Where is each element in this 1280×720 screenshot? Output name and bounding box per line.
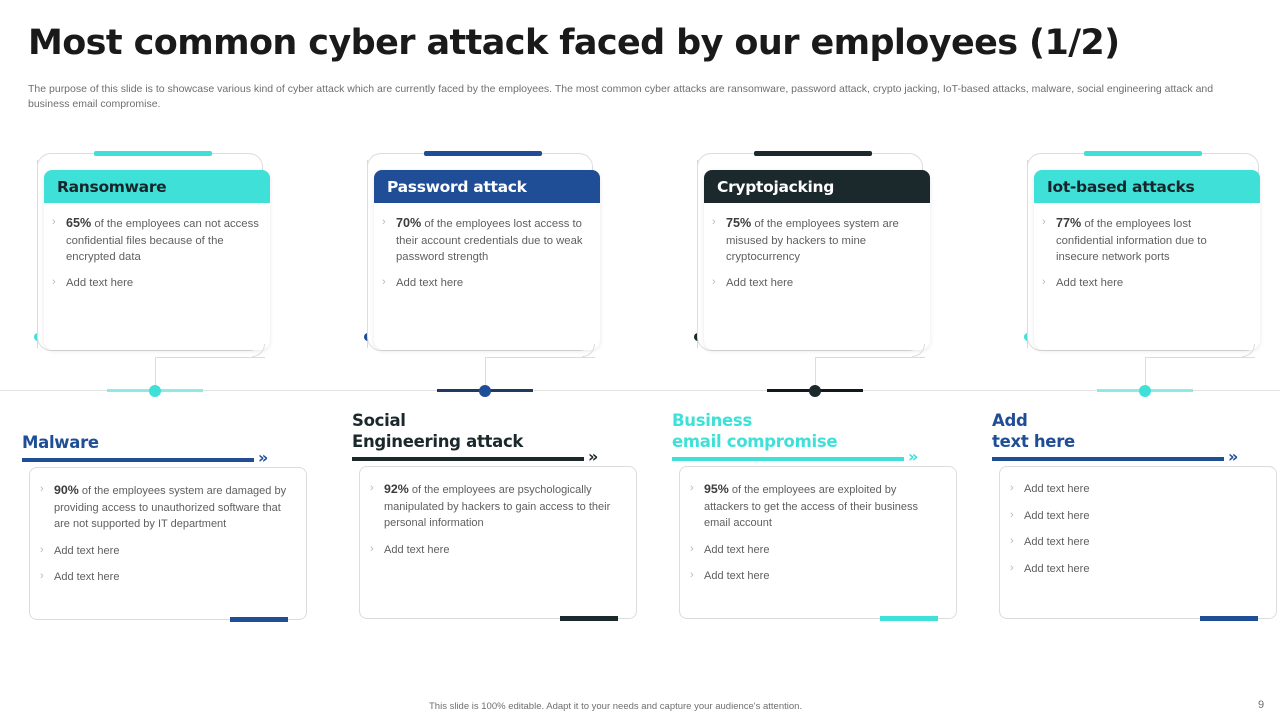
bullet-body: Add text here	[1056, 277, 1123, 289]
chevron-right-icon: ›	[1010, 534, 1024, 551]
bullet-body: Add text here	[704, 570, 769, 582]
chevron-right-icon: ›	[382, 275, 396, 292]
bullet-body: of the employees are psychologically man…	[384, 484, 610, 529]
bullet-percent: 92%	[384, 482, 409, 496]
chevron-right-icon: ›	[40, 569, 54, 586]
card-accent-wrap: »	[672, 454, 964, 466]
chevron-right-icon: ›	[1010, 561, 1024, 578]
bullet-item: ›90% of the employees system are damaged…	[40, 482, 294, 533]
bullet-body: Add text here	[396, 277, 463, 289]
bullet-text: Add text here	[726, 275, 793, 292]
chevron-right-icon: ›	[1010, 508, 1024, 525]
card-header: Iot-based attacks	[1034, 170, 1260, 203]
bullet-item: ›65% of the employees can not access con…	[52, 215, 260, 266]
slide-root: Most common cyber attack faced by our em…	[0, 0, 1280, 720]
bullet-text: Add text here	[1024, 481, 1089, 498]
attack-card-bottom[interactable]: Businessemail compromise»›95% of the emp…	[672, 408, 964, 619]
card-accent-bar	[672, 457, 904, 461]
card-body: ›90% of the employees system are damaged…	[29, 467, 307, 620]
bullet-text: 77% of the employees lost confidential i…	[1056, 215, 1250, 266]
bullet-text: 75% of the employees system are misused …	[726, 215, 920, 266]
card-accent-wrap: »	[22, 455, 314, 467]
bullet-item: ›Add text here	[712, 275, 920, 292]
bullet-body: Add text here	[726, 277, 793, 289]
bullet-text: 90% of the employees system are damaged …	[54, 482, 294, 533]
card-title: Addtext here	[992, 408, 1280, 452]
bullet-item: ›Add text here	[1010, 481, 1264, 498]
bullet-text: Add text here	[54, 569, 119, 586]
card-accent-wrap: »	[992, 454, 1280, 466]
bullet-item: ›Add text here	[1042, 275, 1250, 292]
bullet-text: Add text here	[1024, 534, 1089, 551]
double-chevron-icon: »	[258, 450, 266, 466]
bullet-percent: 95%	[704, 482, 729, 496]
card-top-accent-bar	[1084, 151, 1202, 156]
bullet-body: Add text here	[1024, 483, 1089, 495]
chevron-right-icon: ›	[370, 542, 384, 559]
chevron-right-icon: ›	[690, 568, 704, 585]
connector-curve	[1242, 344, 1255, 357]
bullet-item: ›Add text here	[370, 542, 624, 559]
card-title: SocialEngineering attack	[352, 408, 644, 452]
bullet-item: ›Add text here	[52, 275, 260, 292]
connector-node-dot	[1139, 385, 1151, 397]
bullet-body: Add text here	[54, 545, 119, 557]
bullet-body: Add text here	[1024, 510, 1089, 522]
card-title: Password attack	[387, 178, 527, 196]
bullet-body: Add text here	[1024, 563, 1089, 575]
bullet-text: 95% of the employees are exploited by at…	[704, 481, 944, 532]
card-header: Ransomware	[44, 170, 270, 203]
attack-card-top[interactable]: Password attack›70% of the employees los…	[367, 148, 599, 353]
card-body: ›Add text here›Add text here›Add text he…	[999, 466, 1277, 619]
double-chevron-icon: »	[1228, 449, 1236, 465]
page-number: 9	[1258, 699, 1264, 711]
card-title: Iot-based attacks	[1047, 178, 1194, 196]
bullet-body: Add text here	[54, 571, 119, 583]
chevron-right-icon: ›	[1010, 481, 1024, 498]
bullet-item: ›92% of the employees are psychologicall…	[370, 481, 624, 532]
card-title-line2: Engineering attack	[352, 431, 644, 452]
bullet-text: Add text here	[66, 275, 133, 292]
bullet-percent: 77%	[1056, 216, 1081, 230]
card-title: Cryptojacking	[717, 178, 834, 196]
chevron-right-icon: ›	[382, 215, 396, 266]
bullet-text: Add text here	[704, 542, 769, 559]
attack-card-bottom[interactable]: SocialEngineering attack»›92% of the emp…	[352, 408, 644, 619]
card-bottom-accent-bar	[560, 616, 618, 621]
card-inner: Iot-based attacks›77% of the employees l…	[1034, 170, 1260, 350]
card-body: ›65% of the employees can not access con…	[44, 203, 270, 291]
bullet-text: 65% of the employees can not access conf…	[66, 215, 260, 266]
chevron-right-icon: ›	[52, 275, 66, 292]
card-title: Businessemail compromise	[672, 408, 964, 452]
chevron-right-icon: ›	[690, 481, 704, 532]
card-inner: Ransomware›65% of the employees can not …	[44, 170, 270, 350]
bullet-text: Add text here	[704, 568, 769, 585]
card-inner: Password attack›70% of the employees los…	[374, 170, 600, 350]
bullet-body: of the employees lost access to their ac…	[396, 218, 583, 263]
bullet-text: Add text here	[384, 542, 449, 559]
bullet-item: ›77% of the employees lost confidential …	[1042, 215, 1250, 266]
bullet-percent: 65%	[66, 216, 91, 230]
bullet-item: ›Add text here	[382, 275, 590, 292]
bullet-item: ›70% of the employees lost access to the…	[382, 215, 590, 266]
bullet-body: Add text here	[66, 277, 133, 289]
bullet-text: 70% of the employees lost access to thei…	[396, 215, 590, 266]
bullet-text: Add text here	[1024, 561, 1089, 578]
card-top-accent-bar	[754, 151, 872, 156]
attack-card-top[interactable]: Iot-based attacks›77% of the employees l…	[1027, 148, 1259, 353]
connector-layer	[0, 330, 1280, 400]
bullet-item: ›Add text here	[40, 569, 294, 586]
bullet-percent: 70%	[396, 216, 421, 230]
top-card-row: Ransomware›65% of the employees can not …	[0, 148, 1280, 358]
bullet-text: Add text here	[1024, 508, 1089, 525]
attack-card-bottom[interactable]: Addtext here»›Add text here›Add text her…	[992, 408, 1280, 619]
attack-card-top[interactable]: Cryptojacking›75% of the employees syste…	[697, 148, 929, 353]
chevron-right-icon: ›	[690, 542, 704, 559]
chevron-right-icon: ›	[712, 215, 726, 266]
bullet-percent: 75%	[726, 216, 751, 230]
card-bottom-accent-bar	[880, 616, 938, 621]
card-title-line1: Malware	[22, 432, 314, 453]
attack-card-top[interactable]: Ransomware›65% of the employees can not …	[37, 148, 269, 353]
card-title-line2: text here	[992, 431, 1280, 452]
chevron-right-icon: ›	[712, 275, 726, 292]
chevron-right-icon: ›	[1042, 215, 1056, 266]
bullet-item: ›75% of the employees system are misused…	[712, 215, 920, 266]
card-title: Ransomware	[57, 178, 166, 196]
bullet-body: of the employees system are damaged by p…	[54, 485, 286, 530]
page-title: Most common cyber attack faced by our em…	[28, 24, 1120, 63]
card-title-line1: Social	[352, 410, 644, 431]
card-title: Malware	[22, 408, 314, 453]
card-accent-bar	[992, 457, 1224, 461]
bullet-item: ›Add text here	[690, 542, 944, 559]
card-title-line2: email compromise	[672, 431, 964, 452]
card-top-accent-bar	[424, 151, 542, 156]
card-accent-bar	[22, 458, 254, 462]
card-bottom-accent-bar	[1200, 616, 1258, 621]
chevron-right-icon: ›	[40, 543, 54, 560]
double-chevron-icon: »	[908, 449, 916, 465]
bullet-item: ›Add text here	[40, 543, 294, 560]
card-top-accent-bar	[94, 151, 212, 156]
bullet-text: Add text here	[1056, 275, 1123, 292]
bullet-text: 92% of the employees are psychologically…	[384, 481, 624, 532]
footer-note: This slide is 100% editable. Adapt it to…	[429, 701, 802, 712]
card-title-line1: Add	[992, 410, 1280, 431]
bullet-body: of the employees system are misused by h…	[726, 218, 899, 263]
bullet-percent: 90%	[54, 483, 79, 497]
connector-elbow	[1145, 357, 1255, 391]
attack-card-bottom[interactable]: Malware»›90% of the employees system are…	[22, 408, 314, 620]
card-body: ›75% of the employees system are misused…	[704, 203, 930, 291]
bullet-body: Add text here	[1024, 536, 1089, 548]
double-chevron-icon: »	[588, 449, 596, 465]
bullet-body: of the employees are exploited by attack…	[704, 484, 918, 529]
card-inner: Cryptojacking›75% of the employees syste…	[704, 170, 930, 350]
bottom-card-row: Malware»›90% of the employees system are…	[0, 408, 1280, 648]
bullet-item: ›Add text here	[1010, 561, 1264, 578]
bullet-item: ›Add text here	[1010, 534, 1264, 551]
card-body: ›92% of the employees are psychologicall…	[359, 466, 637, 619]
chevron-right-icon: ›	[40, 482, 54, 533]
chevron-right-icon: ›	[1042, 275, 1056, 292]
card-title-line1: Business	[672, 410, 964, 431]
card-accent-wrap: »	[352, 454, 644, 466]
card-header: Password attack	[374, 170, 600, 203]
bullet-body: Add text here	[704, 544, 769, 556]
bullet-item: ›95% of the employees are exploited by a…	[690, 481, 944, 532]
card-accent-bar	[352, 457, 584, 461]
bullet-item: ›Add text here	[690, 568, 944, 585]
slide-subtitle: The purpose of this slide is to showcase…	[28, 82, 1228, 112]
bullet-body: Add text here	[384, 544, 449, 556]
bullet-text: Add text here	[396, 275, 463, 292]
card-body: ›77% of the employees lost confidential …	[1034, 203, 1260, 291]
connector-node	[0, 330, 1280, 400]
bullet-text: Add text here	[54, 543, 119, 560]
bullet-body: of the employees can not access confiden…	[66, 218, 259, 263]
bullet-item: ›Add text here	[1010, 508, 1264, 525]
card-body: ›95% of the employees are exploited by a…	[679, 466, 957, 619]
chevron-right-icon: ›	[370, 481, 384, 532]
card-body: ›70% of the employees lost access to the…	[374, 203, 600, 291]
chevron-right-icon: ›	[52, 215, 66, 266]
card-bottom-accent-bar	[230, 617, 288, 622]
card-header: Cryptojacking	[704, 170, 930, 203]
